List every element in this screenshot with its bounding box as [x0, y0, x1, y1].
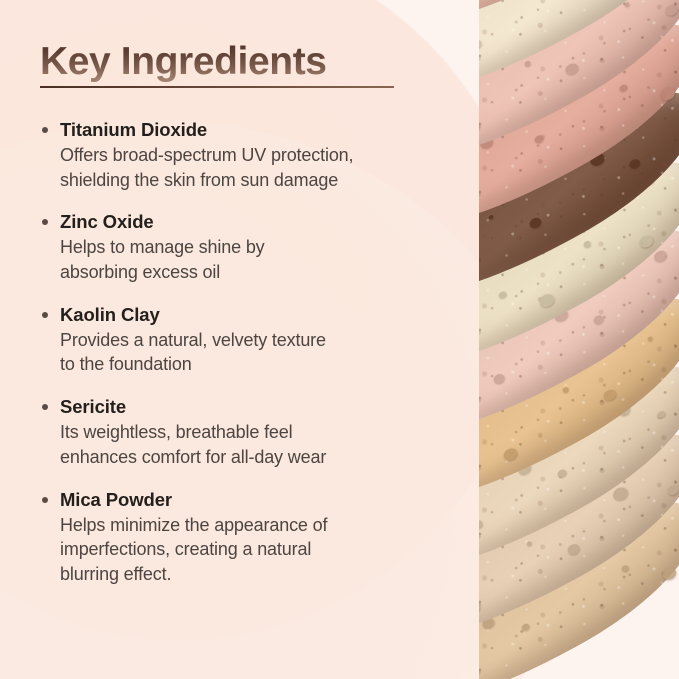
list-item: Mica PowderHelps minimize the appearance…: [40, 488, 470, 587]
list-item: Kaolin ClayProvides a natural, velvety t…: [40, 303, 470, 377]
list-item: Zinc OxideHelps to manage shine by absor…: [40, 210, 470, 284]
page-title-underline: [40, 86, 394, 88]
powder-swatch-bands: [479, 0, 679, 679]
text-content: Key Ingredients Titanium DioxideOffers b…: [0, 0, 500, 679]
bullet-icon: [42, 404, 48, 410]
page-title: Key Ingredients: [40, 40, 394, 84]
ingredient-name: Mica Powder: [60, 488, 470, 513]
powder-swatch-panel: [479, 0, 679, 679]
list-item: Titanium DioxideOffers broad-spectrum UV…: [40, 118, 470, 192]
bullet-icon: [42, 312, 48, 318]
ingredient-name: Sericite: [60, 395, 470, 420]
ingredient-description: Offers broad-spectrum UV protection, shi…: [60, 143, 470, 193]
ingredient-name: Kaolin Clay: [60, 303, 470, 328]
page-title-block: Key Ingredients: [40, 40, 394, 88]
ingredient-description: Helps to manage shine by absorbing exces…: [60, 235, 470, 285]
infographic-page: Key Ingredients Titanium DioxideOffers b…: [0, 0, 679, 679]
ingredient-description: Its weightless, breathable feel enhances…: [60, 420, 470, 470]
ingredient-name: Titanium Dioxide: [60, 118, 470, 143]
ingredient-name: Zinc Oxide: [60, 210, 470, 235]
ingredient-description: Provides a natural, velvety texture to t…: [60, 328, 470, 378]
bullet-icon: [42, 219, 48, 225]
ingredient-description: Helps minimize the appearance of imperfe…: [60, 513, 470, 587]
ingredient-list: Titanium DioxideOffers broad-spectrum UV…: [40, 118, 470, 587]
bullet-icon: [42, 497, 48, 503]
bullet-icon: [42, 127, 48, 133]
list-item: SericiteIts weightless, breathable feel …: [40, 395, 470, 469]
